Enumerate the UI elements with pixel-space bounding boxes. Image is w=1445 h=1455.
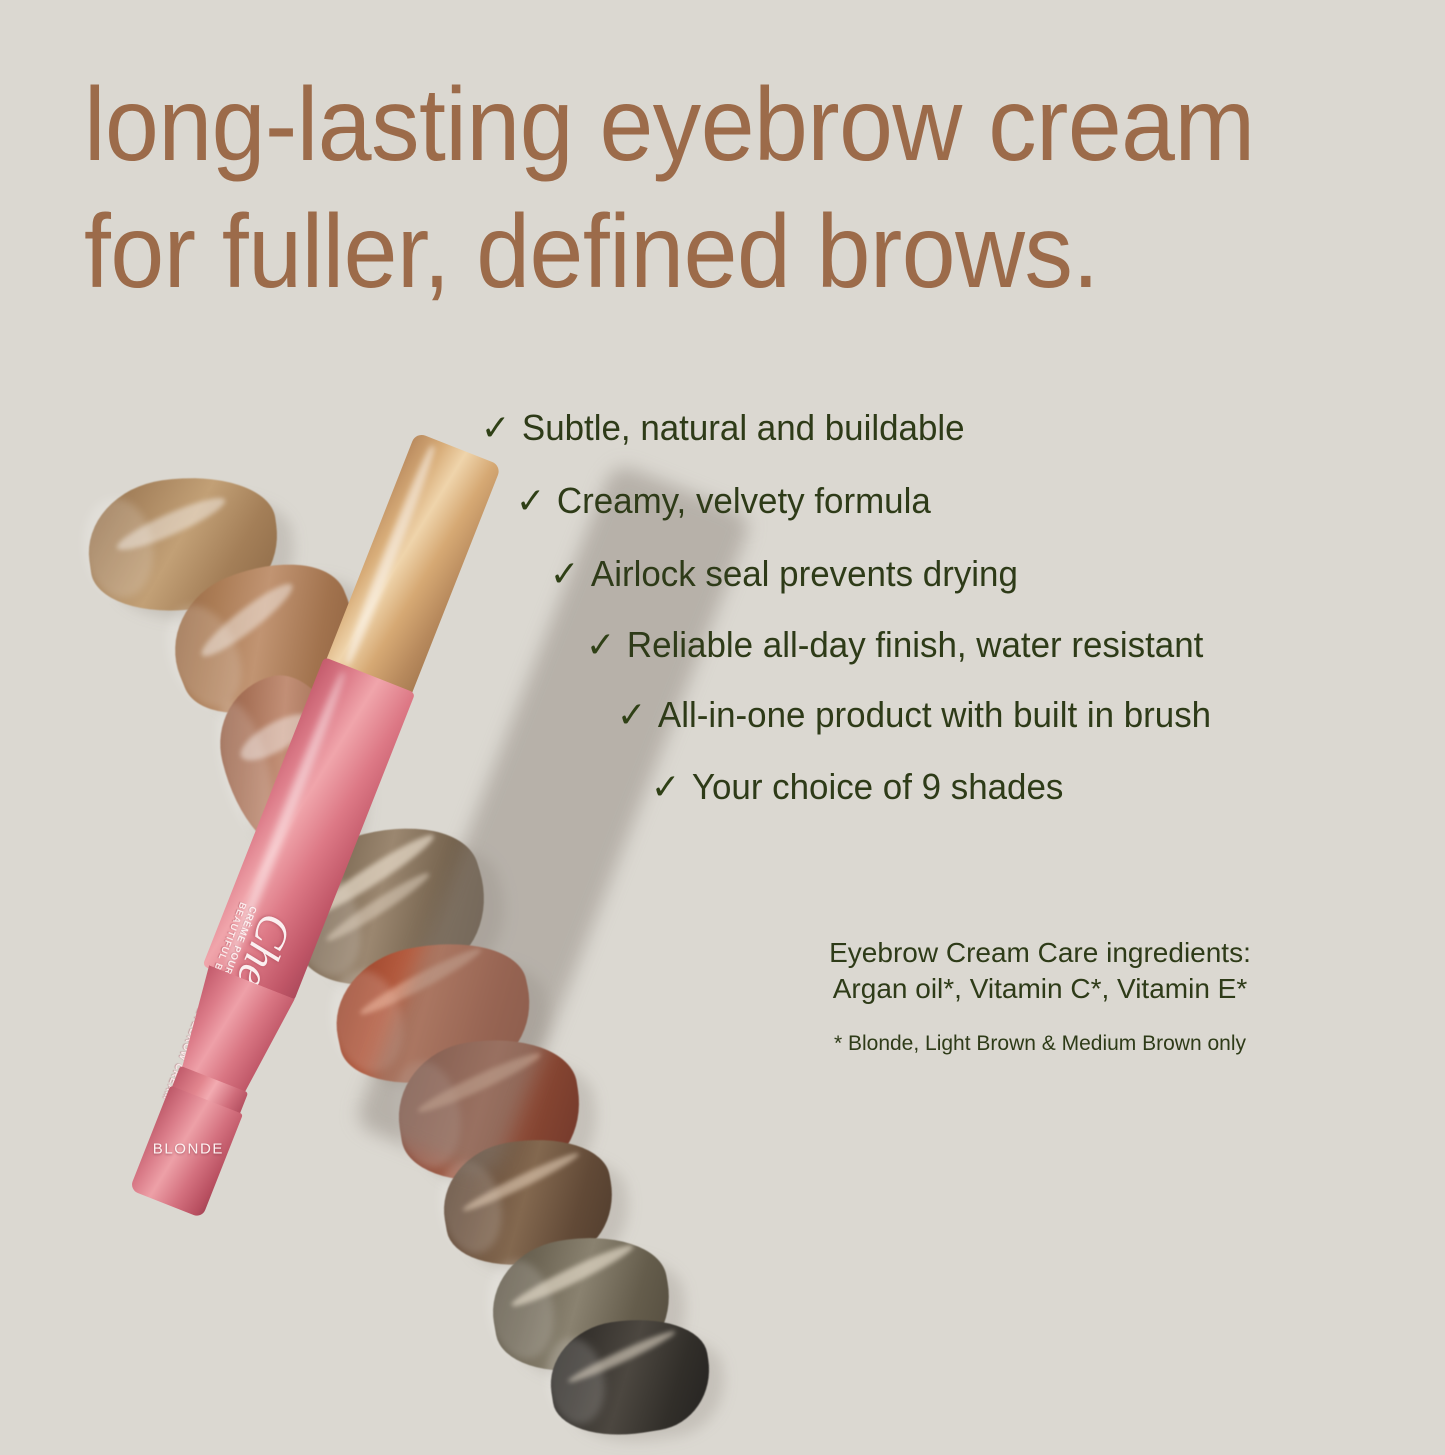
feature-label: Creamy, velvety formula	[557, 480, 931, 521]
list-item: ✓Reliable all-day finish, water resistan…	[586, 627, 1203, 663]
shade-name-label: BLONDE	[149, 1140, 227, 1157]
product-marketing-canvas: long-lasting eyebrow cream for fuller, d…	[0, 0, 1445, 1445]
list-item: ✓Subtle, natural and buildable	[481, 410, 965, 446]
tube-neck	[169, 965, 295, 1101]
swatch-rosy-bronze	[205, 662, 370, 865]
product-photography: Chella® BEAUTIFUL BLONDE EYEBROW CREAM C…	[60, 400, 900, 1410]
ingredients-block: Eyebrow Cream Care ingredients: Argan oi…	[762, 935, 1318, 1008]
label-text-english: BEAUTIFUL BLONDE EYEBROW CREAM	[160, 900, 248, 1102]
feature-label: Subtle, natural and buildable	[522, 407, 965, 448]
list-item: ✓Creamy, velvety formula	[516, 483, 931, 519]
check-icon: ✓	[586, 627, 615, 663]
ingredients-heading: Eyebrow Cream Care ingredients:	[762, 935, 1318, 971]
feature-label: Reliable all-day finish, water resistant	[627, 624, 1203, 665]
headline-line-1: long-lasting eyebrow cream	[84, 62, 1330, 189]
check-icon: ✓	[617, 697, 646, 733]
list-item: ✓All-in-one product with built in brush	[617, 697, 1211, 733]
check-icon: ✓	[651, 769, 680, 805]
list-item: ✓Your choice of 9 shades	[651, 769, 1063, 805]
tube-collar	[171, 1066, 248, 1117]
check-icon: ✓	[481, 410, 510, 446]
check-icon: ✓	[516, 483, 545, 519]
feature-label: Airlock seal prevents drying	[591, 553, 1018, 594]
label-text-french: CRÈME POUR SOURCILS BLOND DOUX	[171, 904, 258, 1103]
page-title: long-lasting eyebrow cream for fuller, d…	[84, 62, 1330, 316]
ingredients-footnote: * Blonde, Light Brown & Medium Brown onl…	[762, 1030, 1318, 1057]
feature-label: Your choice of 9 shades	[692, 766, 1063, 807]
check-icon: ✓	[550, 556, 579, 592]
list-item: ✓Airlock seal prevents drying	[550, 556, 1018, 592]
headline-line-2: for fuller, defined brows.	[84, 189, 1330, 316]
ingredients-list: Argan oil*, Vitamin C*, Vitamin E*	[762, 971, 1318, 1007]
feature-label: All-in-one product with built in brush	[658, 694, 1211, 735]
tube-base	[129, 1085, 243, 1218]
swatch-dark-charcoal	[542, 1308, 718, 1446]
